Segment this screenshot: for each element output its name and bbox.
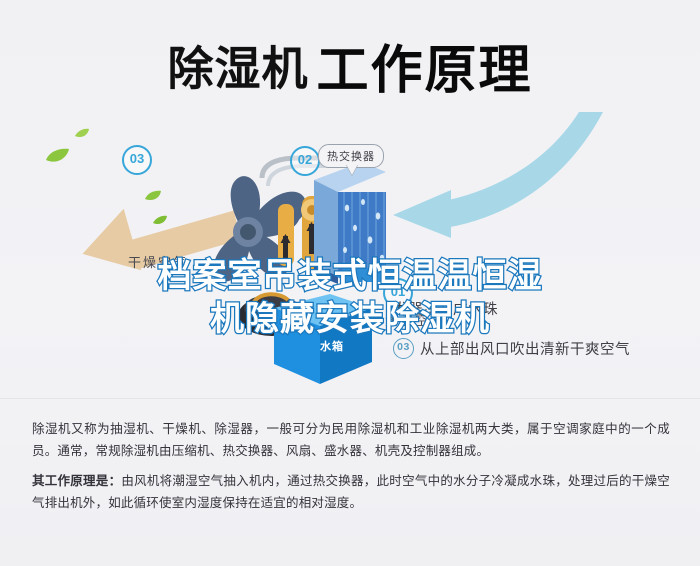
leaf-icon [152, 215, 168, 227]
badge-step-02: 02 [290, 146, 320, 176]
paragraph-one: 除湿机又称为抽湿机、干燥机、除湿器，一般可分为民用除湿机和工业除湿机两大类，属于… [32, 418, 670, 462]
leaf-icon [44, 148, 70, 166]
title-part-one: 除湿机 [167, 43, 308, 95]
leaf-icon [144, 190, 162, 203]
dehumidifier-diagram: 水箱 01 02 03 热交换器 干燥空气 潮湿空气 发器冷凝成水珠 03 从上… [0, 110, 700, 395]
dry-air-label: 干燥空气 [128, 252, 188, 271]
page-title: 除湿机工作原理 [0, 28, 700, 103]
humid-air-swoosh-arrow [355, 112, 605, 237]
step-three-row: 03 从上部出风口吹出清新干爽空气 [393, 338, 630, 359]
leaf-icon [74, 128, 90, 140]
paragraph-two-lead: 其工作原理是： [32, 474, 121, 488]
paragraph-two-text: 由风机将潮湿空气抽入机内，通过热交换器，此时空气中的水分子冷凝成水珠，处理过后的… [32, 474, 670, 510]
step-three-description: 从上部出风口吹出清新干爽空气 [420, 338, 630, 359]
infographic-page: 除湿机工作原理 [0, 0, 700, 566]
callout-tail [346, 164, 358, 175]
water-tank-label: 水箱 [320, 338, 344, 354]
step-two-description: 发器冷凝成水珠 [393, 298, 498, 319]
badge-step-03: 03 [122, 145, 152, 175]
title-part-two: 工作原理 [316, 42, 532, 100]
step-three-badge: 03 [393, 338, 414, 359]
section-divider [0, 398, 700, 399]
paragraph-two: 其工作原理是：由风机将潮湿空气抽入机内，通过热交换器，此时空气中的水分子冷凝成水… [32, 470, 670, 514]
body-copy: 除湿机又称为抽湿机、干燥机、除湿器，一般可分为民用除湿机和工业除湿机两大类，属于… [32, 418, 670, 522]
